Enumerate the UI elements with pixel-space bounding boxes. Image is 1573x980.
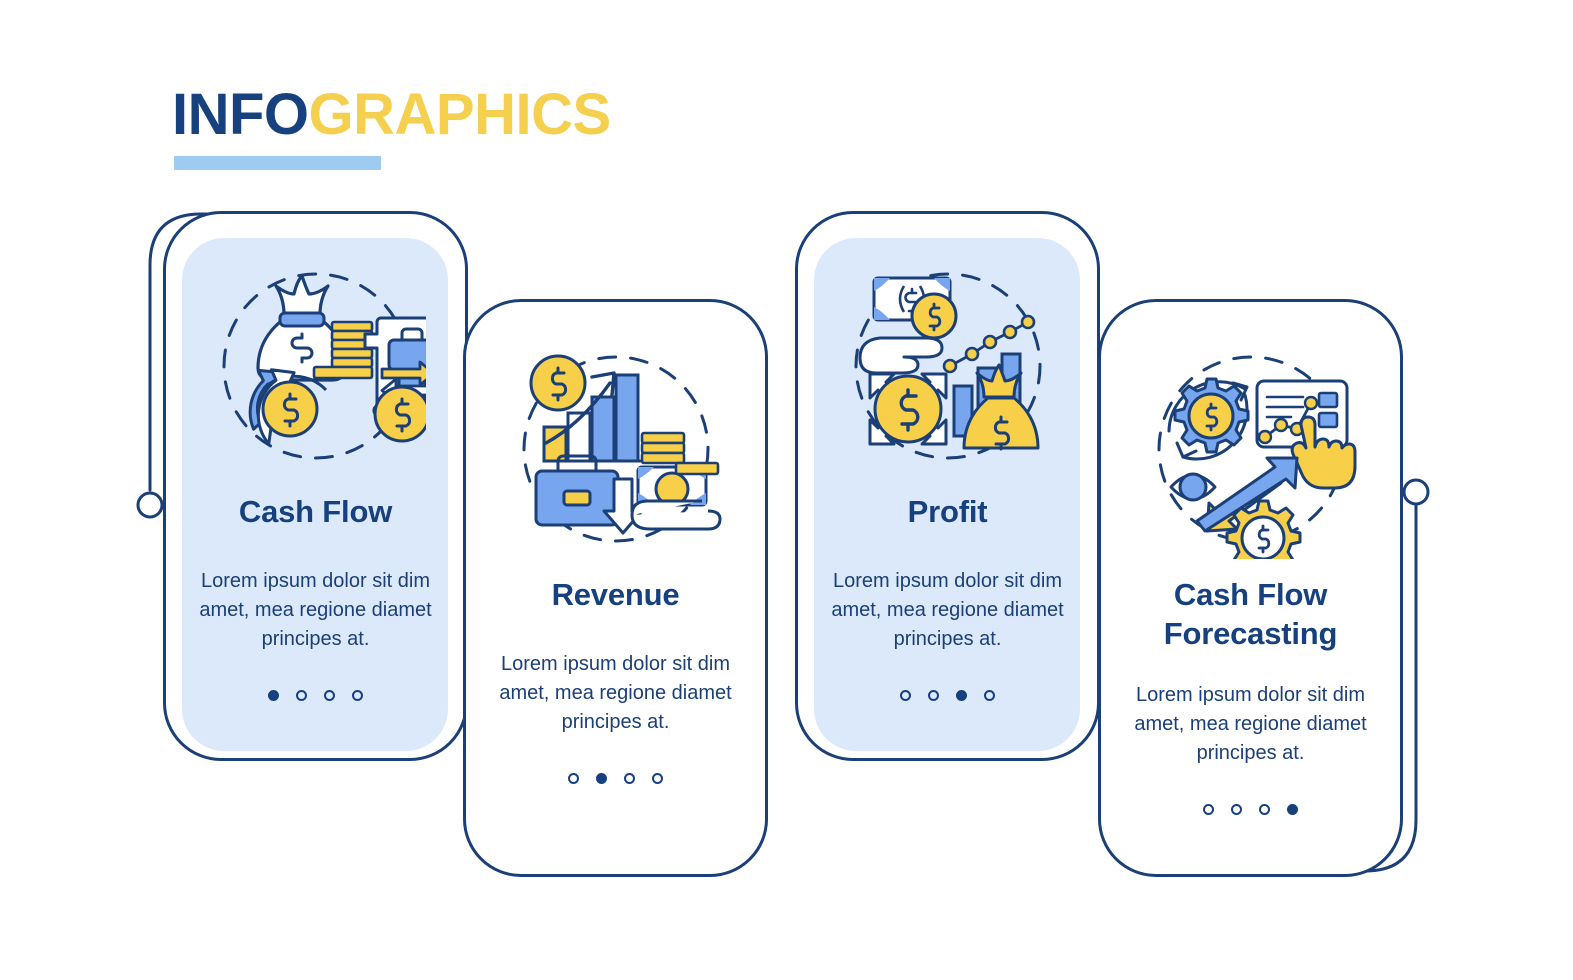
page-title-accent: GRAPHICS xyxy=(309,82,611,147)
card-content: Revenue Lorem ipsum dolor sit dim amet, … xyxy=(463,339,768,784)
page-title: INFOGRAPHICS xyxy=(172,82,872,148)
pagination-dots[interactable] xyxy=(463,773,768,784)
pagination-dot-1[interactable] xyxy=(568,773,579,784)
card-profit[interactable]: Profit Lorem ipsum dolor sit dim amet, m… xyxy=(795,211,1100,761)
pagination-dots[interactable] xyxy=(1098,804,1403,815)
pagination-dot-2[interactable] xyxy=(928,690,939,701)
pagination-dot-4[interactable] xyxy=(984,690,995,701)
card-cash-flow[interactable]: Cash Flow Lorem ipsum dolor sit dim amet… xyxy=(163,211,468,761)
pagination-dot-3[interactable] xyxy=(324,690,335,701)
right-terminator-dot xyxy=(1404,480,1428,504)
page-header: INFOGRAPHICS xyxy=(172,82,872,192)
card-description: Lorem ipsum dolor sit dim amet, mea regi… xyxy=(191,567,441,654)
card-title: Cash Flow Forecasting xyxy=(1136,575,1366,653)
card-content: Cash Flow Forecasting Lorem ipsum dolor … xyxy=(1098,339,1403,815)
page-title-primary: INFO xyxy=(172,82,309,147)
card-title: Profit xyxy=(795,492,1100,531)
pagination-dots[interactable] xyxy=(163,690,468,701)
card-description: Lorem ipsum dolor sit dim amet, mea regi… xyxy=(1126,681,1376,768)
pagination-dot-1[interactable] xyxy=(900,690,911,701)
card-revenue[interactable]: Revenue Lorem ipsum dolor sit dim amet, … xyxy=(463,299,768,877)
card-description: Lorem ipsum dolor sit dim amet, mea regi… xyxy=(823,567,1073,654)
pagination-dot-2[interactable] xyxy=(296,690,307,701)
left-terminator-dot xyxy=(138,493,162,517)
pagination-dot-1[interactable] xyxy=(268,690,279,701)
title-underline xyxy=(174,156,381,170)
pagination-dot-3[interactable] xyxy=(956,690,967,701)
card-cash-flow-forecasting[interactable]: Cash Flow Forecasting Lorem ipsum dolor … xyxy=(1098,299,1403,877)
pagination-dot-3[interactable] xyxy=(1259,804,1270,815)
card-content: Cash Flow Lorem ipsum dolor sit dim amet… xyxy=(163,256,468,701)
pagination-dot-1[interactable] xyxy=(1203,804,1214,815)
cash-flow-icon xyxy=(163,256,468,476)
pagination-dot-4[interactable] xyxy=(352,690,363,701)
pagination-dot-2[interactable] xyxy=(1231,804,1242,815)
pagination-dot-4[interactable] xyxy=(652,773,663,784)
revenue-growth-icon xyxy=(463,339,768,559)
pagination-dots[interactable] xyxy=(795,690,1100,701)
card-title: Revenue xyxy=(463,575,768,614)
card-title: Cash Flow xyxy=(163,492,468,531)
pagination-dot-3[interactable] xyxy=(624,773,635,784)
profit-icon xyxy=(795,256,1100,476)
card-description: Lorem ipsum dolor sit dim amet, mea regi… xyxy=(491,650,741,737)
pagination-dot-2[interactable] xyxy=(596,773,607,784)
cash-flow-forecasting-icon xyxy=(1098,339,1403,559)
infographic-canvas: INFOGRAPHICS xyxy=(0,0,1573,980)
pagination-dot-4[interactable] xyxy=(1287,804,1298,815)
card-content: Profit Lorem ipsum dolor sit dim amet, m… xyxy=(795,256,1100,701)
